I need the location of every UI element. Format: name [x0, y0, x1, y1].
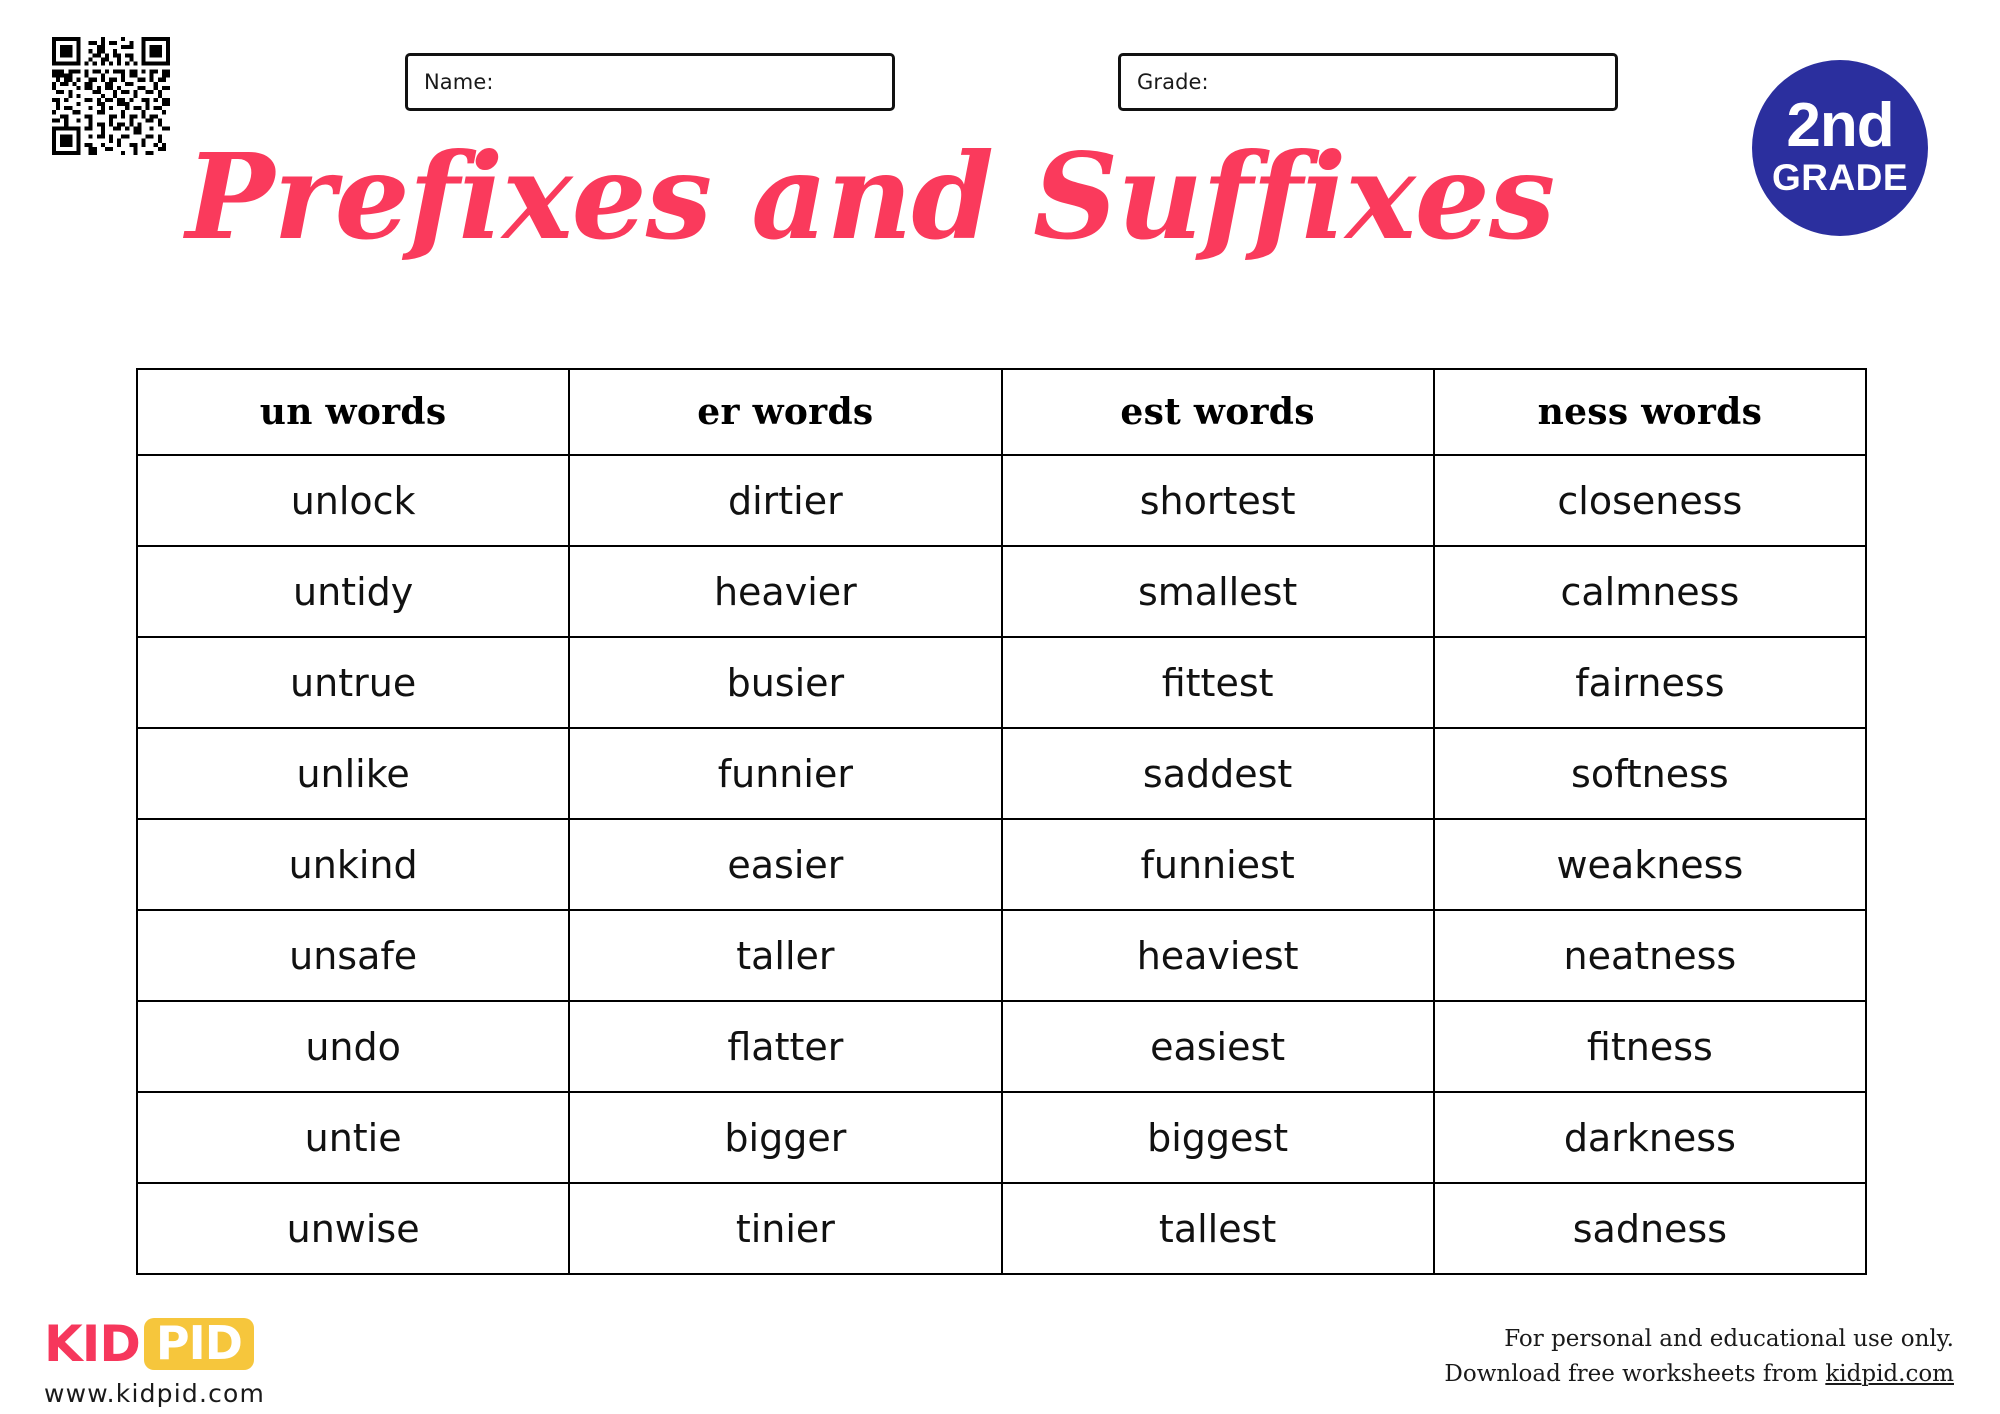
- table-cell: darkness: [1434, 1092, 1866, 1183]
- table-cell: neatness: [1434, 910, 1866, 1001]
- table-cell: tallest: [1002, 1183, 1434, 1274]
- table-cell: flatter: [569, 1001, 1001, 1092]
- kidpid-logo: KID PID: [44, 1318, 265, 1370]
- name-label: Name:: [408, 70, 494, 94]
- table-header: un words er words est words ness words: [137, 369, 1866, 455]
- table-row: unkind easier funniest weakness: [137, 819, 1866, 910]
- table-body: unlock dirtier shortest closeness untidy…: [137, 455, 1866, 1274]
- table-row: unlike funnier saddest softness: [137, 728, 1866, 819]
- brand-footer: KID PID www.kidpid.com: [44, 1318, 265, 1408]
- table-row: unwise tinier tallest sadness: [137, 1183, 1866, 1274]
- table-cell: unwise: [137, 1183, 569, 1274]
- table-cell: dirtier: [569, 455, 1001, 546]
- legal-line-2-prefix: Download free worksheets from: [1444, 1361, 1825, 1387]
- table-cell: unkind: [137, 819, 569, 910]
- brand-website-url: www.kidpid.com: [44, 1379, 265, 1408]
- table-cell: unsafe: [137, 910, 569, 1001]
- column-header-un: un words: [137, 369, 569, 455]
- table-cell: sadness: [1434, 1183, 1866, 1274]
- grade-input-field[interactable]: Grade:: [1118, 53, 1618, 111]
- table-cell: saddest: [1002, 728, 1434, 819]
- legal-line-2: Download free worksheets from kidpid.com: [1444, 1357, 1954, 1392]
- table-cell: taller: [569, 910, 1001, 1001]
- name-input-field[interactable]: Name:: [405, 53, 895, 111]
- table-cell: heavier: [569, 546, 1001, 637]
- table-cell: unlike: [137, 728, 569, 819]
- table-row: untidy heavier smallest calmness: [137, 546, 1866, 637]
- grade-badge-word: GRADE: [1772, 158, 1908, 199]
- table-row: unlock dirtier shortest closeness: [137, 455, 1866, 546]
- table-cell: funnier: [569, 728, 1001, 819]
- table-cell: heaviest: [1002, 910, 1434, 1001]
- page-title: Prefixes and Suffixes: [0, 135, 1740, 259]
- kidpid-link[interactable]: kidpid.com: [1825, 1361, 1954, 1387]
- table-cell: weakness: [1434, 819, 1866, 910]
- column-header-er: er words: [569, 369, 1001, 455]
- table-cell: untidy: [137, 546, 569, 637]
- word-table-container: un words er words est words ness words u…: [136, 368, 1867, 1275]
- table-cell: tinier: [569, 1183, 1001, 1274]
- table-cell: fitness: [1434, 1001, 1866, 1092]
- grade-label: Grade:: [1121, 70, 1209, 94]
- table-row: untie bigger biggest darkness: [137, 1092, 1866, 1183]
- grade-level-badge: 2nd GRADE: [1752, 60, 1928, 236]
- table-row: unsafe taller heaviest neatness: [137, 910, 1866, 1001]
- table-cell: undo: [137, 1001, 569, 1092]
- table-cell: busier: [569, 637, 1001, 728]
- column-header-ness: ness words: [1434, 369, 1866, 455]
- table-cell: calmness: [1434, 546, 1866, 637]
- logo-kid-text: KID: [44, 1319, 140, 1369]
- table-header-row: un words er words est words ness words: [137, 369, 1866, 455]
- table-cell: shortest: [1002, 455, 1434, 546]
- prefixes-suffixes-table: un words er words est words ness words u…: [136, 368, 1867, 1275]
- table-cell: closeness: [1434, 455, 1866, 546]
- table-cell: untrue: [137, 637, 569, 728]
- table-cell: funniest: [1002, 819, 1434, 910]
- legal-line-1: For personal and educational use only.: [1444, 1322, 1954, 1357]
- table-cell: bigger: [569, 1092, 1001, 1183]
- grade-badge-ordinal: 2nd: [1786, 97, 1893, 156]
- legal-notice: For personal and educational use only. D…: [1444, 1322, 1954, 1391]
- table-cell: smallest: [1002, 546, 1434, 637]
- table-cell: easiest: [1002, 1001, 1434, 1092]
- table-cell: fittest: [1002, 637, 1434, 728]
- table-cell: unlock: [137, 455, 569, 546]
- table-cell: easier: [569, 819, 1001, 910]
- logo-pid-text: PID: [144, 1318, 254, 1370]
- table-cell: untie: [137, 1092, 569, 1183]
- column-header-est: est words: [1002, 369, 1434, 455]
- table-cell: softness: [1434, 728, 1866, 819]
- table-cell: biggest: [1002, 1092, 1434, 1183]
- table-row: undo flatter easiest fitness: [137, 1001, 1866, 1092]
- table-row: untrue busier fittest fairness: [137, 637, 1866, 728]
- table-cell: fairness: [1434, 637, 1866, 728]
